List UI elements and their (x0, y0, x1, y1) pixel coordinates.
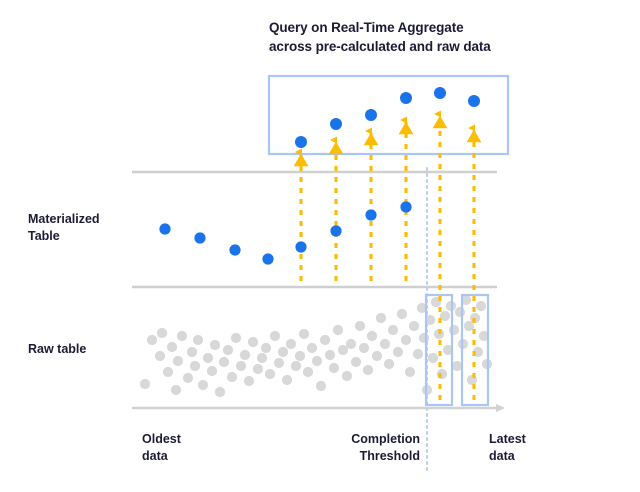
raw-data-point (231, 333, 241, 343)
raw-data-point (329, 363, 339, 373)
raw-data-point (455, 307, 465, 317)
materialized-table-points (159, 201, 411, 264)
raw-data-point (240, 350, 250, 360)
query-triangle-markers (294, 116, 482, 166)
raw-data-point (278, 347, 288, 357)
query-triangle-marker (399, 122, 414, 134)
raw-data-point (270, 331, 280, 341)
raw-data-point (171, 385, 181, 395)
raw-data-point (183, 373, 193, 383)
raw-data-point (187, 347, 197, 357)
raw-data-point (248, 337, 258, 347)
raw-data-point (236, 361, 246, 371)
raw-data-point (333, 325, 343, 335)
caption-latest-line-2: data (489, 449, 515, 463)
raw-data-point (393, 347, 403, 357)
diagram-canvas: Query on Real-Time Aggregate across pre-… (0, 0, 640, 492)
axis-caption-oldest-data: Oldest data (142, 431, 252, 465)
diagram-svg (0, 0, 640, 492)
raw-data-point (177, 331, 187, 341)
query-triangle-marker (329, 142, 344, 154)
materialized-data-point (330, 225, 341, 236)
raw-data-point (397, 309, 407, 319)
section-divider-rules (132, 172, 497, 287)
raw-data-point (312, 356, 322, 366)
materialized-data-point (194, 232, 205, 243)
query-dot-marker (468, 95, 480, 107)
raw-data-point (307, 343, 317, 353)
raw-data-point (173, 356, 183, 366)
raw-data-point (413, 349, 423, 359)
raw-data-point (207, 366, 217, 376)
raw-data-point (167, 342, 177, 352)
raw-data-point (210, 340, 220, 350)
query-dot-marker (400, 92, 412, 104)
raw-data-point (452, 361, 462, 371)
raw-data-point (419, 333, 429, 343)
query-triangle-marker (364, 133, 379, 145)
raw-data-point (299, 329, 309, 339)
raw-data-point (203, 353, 213, 363)
raw-data-point (303, 367, 313, 377)
page-title: Query on Real-Time Aggregate across pre-… (269, 18, 569, 56)
materialized-data-point (262, 253, 273, 264)
raw-data-point (157, 328, 167, 338)
raw-data-point (405, 367, 415, 377)
raw-data-point (215, 387, 225, 397)
raw-data-point (325, 350, 335, 360)
raw-data-point (346, 339, 356, 349)
raw-table-label: Raw table (28, 341, 136, 358)
axis-caption-completion-threshold: Completion Threshold (325, 431, 420, 465)
raw-data-point (359, 343, 369, 353)
raw-data-point (380, 339, 390, 349)
raw-data-point (449, 325, 459, 335)
raw-data-point (372, 351, 382, 361)
materialized-data-point (400, 201, 411, 212)
materialized-data-point (365, 209, 376, 220)
raw-data-point (351, 357, 361, 367)
raw-data-point (291, 361, 301, 371)
raw-data-point (155, 351, 165, 361)
query-dot-marker (330, 118, 342, 130)
query-dot-marker (365, 109, 377, 121)
caption-oldest-line-2: data (142, 449, 168, 463)
query-dot-marker (434, 87, 446, 99)
materialized-table-label-line-1: Materialized (28, 212, 100, 226)
materialized-table-label: Materialized Table (28, 211, 136, 245)
page-title-line-2: across pre-calculated and raw data (269, 39, 491, 54)
raw-data-point (163, 367, 173, 377)
raw-data-point (223, 345, 233, 355)
raw-data-point (286, 339, 296, 349)
materialized-data-point (229, 244, 240, 255)
raw-data-point (342, 371, 352, 381)
raw-data-point (253, 364, 263, 374)
raw-data-point (409, 321, 419, 331)
raw-data-point (316, 381, 326, 391)
raw-data-point (428, 353, 438, 363)
caption-oldest-line-1: Oldest (142, 432, 181, 446)
raw-data-point (140, 379, 150, 389)
materialized-data-point (159, 223, 170, 234)
page-title-line-1: Query on Real-Time Aggregate (269, 20, 464, 35)
raw-data-point (265, 369, 275, 379)
raw-data-point (437, 369, 447, 379)
raw-data-point (219, 357, 229, 367)
caption-threshold-line-2: Threshold (360, 449, 420, 463)
raw-data-point (376, 313, 386, 323)
query-triangle-marker (294, 154, 309, 166)
raw-data-point (193, 335, 203, 345)
query-triangle-marker (433, 116, 448, 128)
caption-threshold-line-1: Completion (351, 432, 420, 446)
raw-data-point (363, 365, 373, 375)
raw-data-point (257, 353, 267, 363)
raw-data-point (198, 380, 208, 390)
raw-data-point (147, 335, 157, 345)
raw-data-point (190, 361, 200, 371)
raw-data-point (388, 325, 398, 335)
axis-caption-latest-data: Latest data (489, 431, 579, 465)
raw-data-point (227, 372, 237, 382)
raw-data-point (476, 301, 486, 311)
query-triangle-marker (467, 130, 482, 142)
raw-data-point (401, 335, 411, 345)
raw-data-point (367, 331, 377, 341)
query-dot-markers (295, 87, 480, 148)
caption-latest-line-1: Latest (489, 432, 526, 446)
raw-data-point (320, 335, 330, 345)
materialized-data-point (295, 241, 306, 252)
raw-data-point (282, 375, 292, 385)
raw-data-point (295, 351, 305, 361)
raw-data-point (261, 343, 271, 353)
query-dot-marker (295, 136, 307, 148)
raw-data-point (274, 358, 284, 368)
raw-data-point (355, 321, 365, 331)
materialized-table-label-line-2: Table (28, 229, 60, 243)
raw-data-point (384, 359, 394, 369)
raw-data-point (244, 376, 254, 386)
raw-data-point (467, 375, 477, 385)
